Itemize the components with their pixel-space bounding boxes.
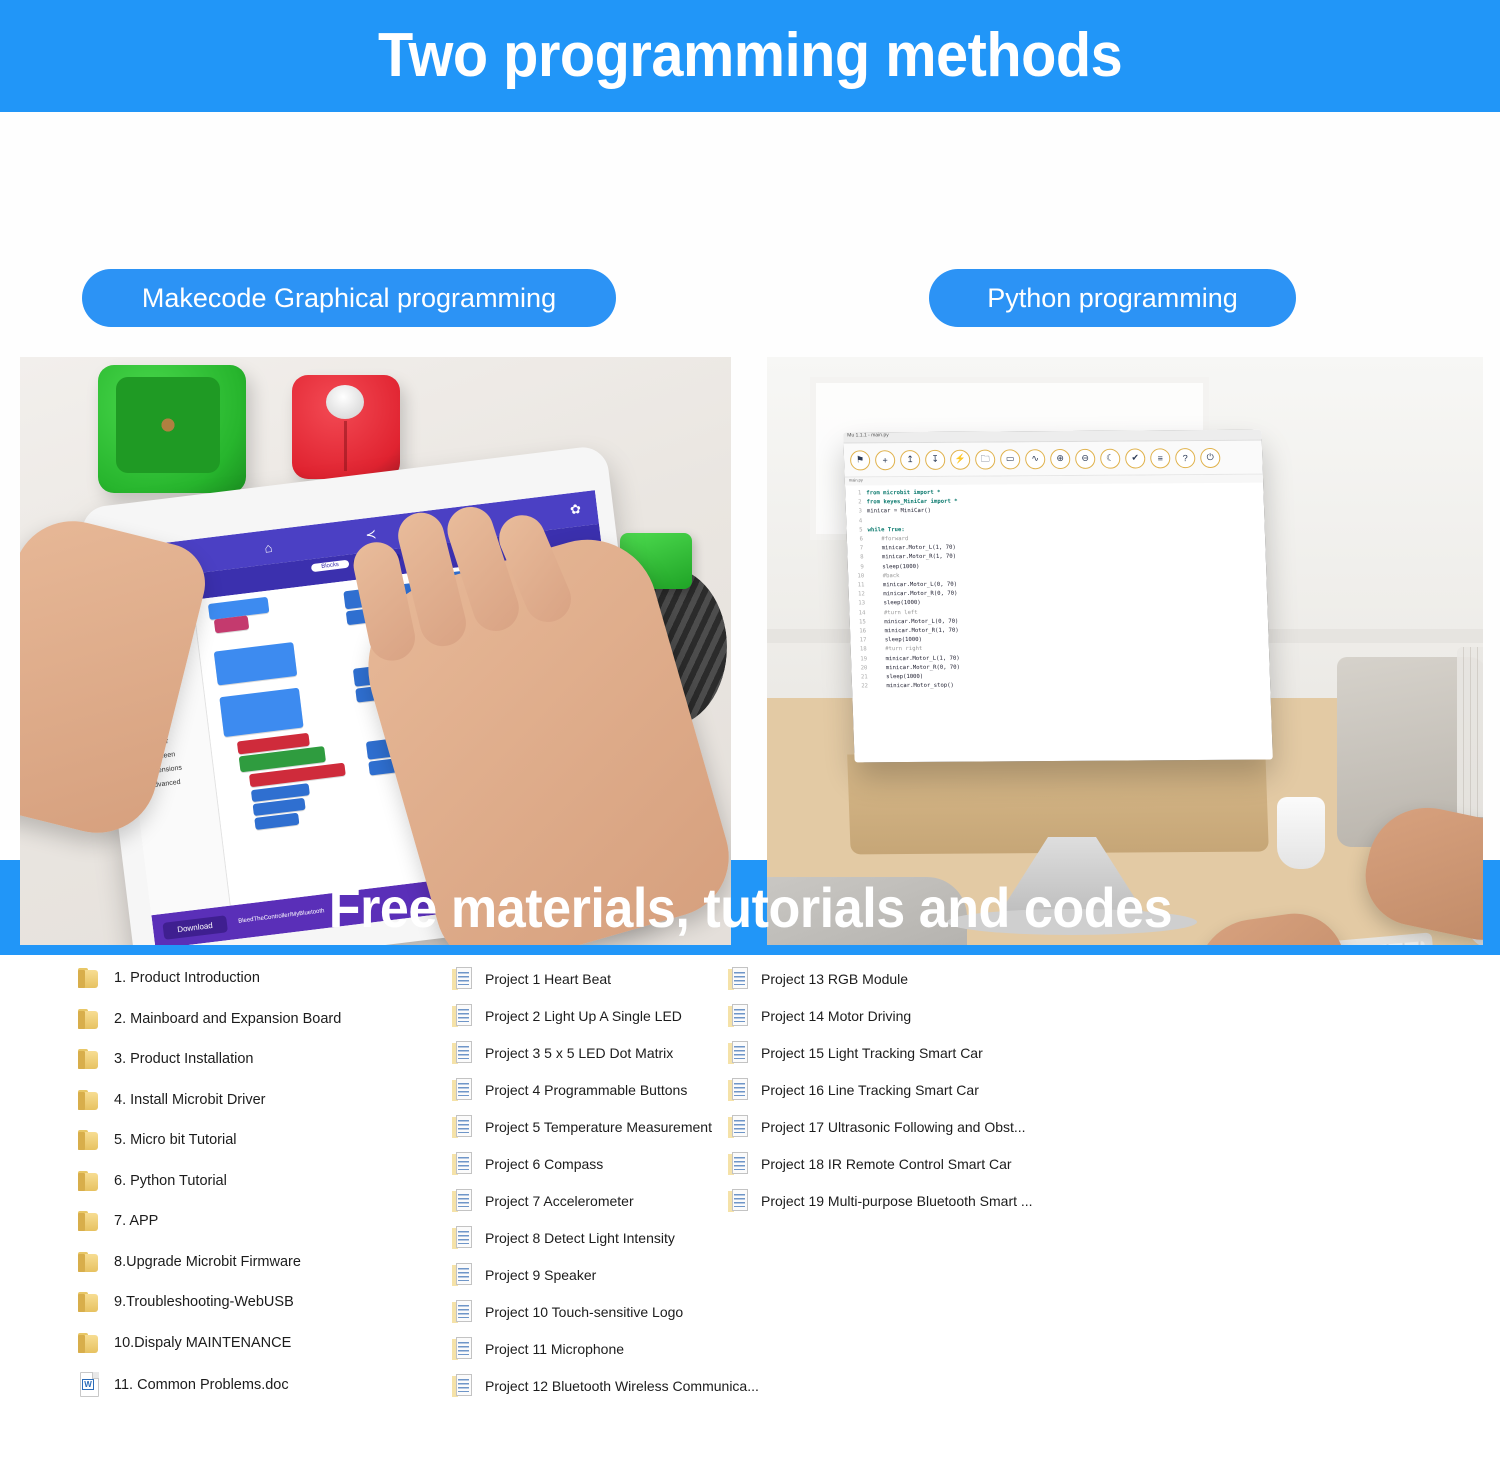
code-text: while True: — [867, 527, 904, 533]
file-list-item-label: Project 8 Detect Light Intensity — [485, 1230, 675, 1246]
mu-editor-window: Mu 1.1.1 - main.py ⚑+↥↧⚡🗀▭∿⊕⊖☾✔≡?⏻ main.… — [843, 430, 1273, 763]
projects-file-list-a[interactable]: Project 1 Heart BeatProject 2 Light Up A… — [452, 967, 732, 1411]
file-list-item-label: 7. APP — [114, 1213, 158, 1229]
file-list-item-label: Project 5 Temperature Measurement — [485, 1119, 712, 1135]
file-list-item[interactable]: Project 4 Programmable Buttons — [452, 1078, 732, 1102]
line-number: 22 — [856, 683, 868, 692]
line-number: 15 — [854, 618, 866, 627]
project-file-icon — [452, 1078, 474, 1102]
code-text: #turn left — [870, 610, 917, 616]
folder-icon — [78, 1008, 102, 1030]
file-list-item[interactable]: Project 19 Multi-purpose Bluetooth Smart… — [728, 1189, 1048, 1213]
file-list-item-label: 1. Product Introduction — [114, 970, 260, 986]
code-text: #back — [869, 573, 900, 579]
file-list-item-label: 4. Install Microbit Driver — [114, 1092, 265, 1108]
project-file-icon — [728, 1115, 750, 1139]
code-text: minicar.Motor_stop() — [873, 683, 954, 690]
wire-tray — [1457, 647, 1483, 817]
file-list-item[interactable]: Project 17 Ultrasonic Following and Obst… — [728, 1115, 1048, 1139]
material-file-list[interactable]: 1. Product Introduction2. Mainboard and … — [78, 967, 438, 1417]
file-list-item-label: 6. Python Tutorial — [114, 1173, 227, 1189]
file-list-item[interactable]: Project 2 Light Up A Single LED — [452, 1004, 732, 1028]
block[interactable] — [219, 688, 303, 737]
imac-monitor: Mu 1.1.1 - main.py ⚑+↥↧⚡🗀▭∿⊕⊖☾✔≡?⏻ main.… — [843, 430, 1273, 763]
code-text: from microbit import * — [866, 490, 940, 497]
file-list-item-label: Project 3 5 x 5 LED Dot Matrix — [485, 1045, 673, 1061]
file-list-item[interactable]: 4. Install Microbit Driver — [78, 1089, 438, 1111]
file-list-item-label: Project 12 Bluetooth Wireless Communica.… — [485, 1378, 759, 1394]
project-file-icon — [452, 1041, 474, 1065]
file-list-item[interactable]: 9.Troubleshooting-WebUSB — [78, 1291, 438, 1313]
green-sensor-cube — [98, 365, 246, 493]
code-text: minicar.Motor_L(1, 70) — [868, 545, 956, 552]
line-number: 2 — [849, 499, 861, 508]
line-number: 16 — [854, 627, 866, 636]
file-list-item[interactable]: 2. Mainboard and Expansion Board — [78, 1008, 438, 1030]
file-list-item-label: Project 17 Ultrasonic Following and Obst… — [761, 1119, 1026, 1135]
file-list-item-label: Project 13 RGB Module — [761, 971, 908, 987]
file-list-item[interactable]: Project 6 Compass — [452, 1152, 732, 1176]
file-list-item-label: Project 15 Light Tracking Smart Car — [761, 1045, 983, 1061]
file-list-item-label: Project 19 Multi-purpose Bluetooth Smart… — [761, 1193, 1033, 1209]
tidy-icon[interactable]: ≡ — [1150, 448, 1171, 468]
zoom-in-icon[interactable]: ⊕ — [1050, 448, 1071, 468]
file-list-item[interactable]: Project 13 RGB Module — [728, 967, 1048, 991]
file-list-item[interactable]: Project 8 Detect Light Intensity — [452, 1226, 732, 1250]
file-list-item[interactable]: Project 9 Speaker — [452, 1263, 732, 1287]
file-list-item[interactable]: Project 14 Motor Driving — [728, 1004, 1048, 1028]
gear-icon[interactable]: ✿ — [563, 500, 588, 519]
line-number: 4 — [850, 517, 862, 526]
save-icon[interactable]: ↧ — [925, 449, 946, 469]
file-list-item[interactable]: 6. Python Tutorial — [78, 1170, 438, 1192]
line-number: 14 — [853, 609, 865, 618]
folder-icon — [78, 1332, 102, 1354]
folder-icon — [78, 1089, 102, 1111]
line-number: 5 — [850, 526, 862, 535]
theme-icon[interactable]: ☾ — [1100, 448, 1121, 468]
home-icon[interactable]: ⌂ — [257, 539, 279, 556]
file-list-item-label: Project 4 Programmable Buttons — [485, 1082, 687, 1098]
project-file-icon — [452, 1374, 474, 1398]
file-list-item[interactable]: Project 10 Touch-sensitive Logo — [452, 1300, 732, 1324]
materials-section: 1. Product Introduction2. Mainboard and … — [0, 955, 1500, 1475]
block[interactable] — [254, 813, 299, 830]
file-list-item[interactable]: Project 11 Microphone — [452, 1337, 732, 1361]
file-list-item[interactable]: 3. Product Installation — [78, 1048, 438, 1070]
code-text: sleep(1000) — [870, 600, 921, 606]
file-list-item-label: Project 9 Speaker — [485, 1267, 596, 1283]
plotter-icon[interactable]: ∿ — [1025, 449, 1046, 469]
line-number: 8 — [851, 554, 863, 563]
makecode-photo: Microsoft micro:bit ⌂ ≺ ? ✿ Blocks JavaS… — [20, 357, 731, 945]
code-text: minicar = MiniCar() — [867, 508, 931, 514]
folder-icon — [78, 1251, 102, 1273]
file-list-item-label: Project 6 Compass — [485, 1156, 603, 1172]
quit-icon[interactable]: ⏻ — [1200, 447, 1221, 467]
line-number: 19 — [855, 655, 867, 664]
help-icon[interactable]: ? — [1175, 448, 1196, 468]
project-file-icon — [728, 1041, 750, 1065]
new-icon[interactable]: + — [875, 450, 896, 470]
line-number: 6 — [851, 535, 863, 544]
project-file-icon — [452, 967, 474, 991]
file-list-item-label: Project 10 Touch-sensitive Logo — [485, 1304, 683, 1320]
code-text: #turn right — [872, 646, 923, 652]
project-file-icon — [728, 1078, 750, 1102]
tab-blocks[interactable]: Blocks — [311, 560, 349, 573]
code-text: minicar.Motor_L(0, 70) — [869, 582, 957, 589]
file-list-item[interactable]: Project 18 IR Remote Control Smart Car — [728, 1152, 1048, 1176]
file-list-item-label: 5. Micro bit Tutorial — [114, 1132, 237, 1148]
project-file-icon — [728, 967, 750, 991]
folder-icon — [78, 1129, 102, 1151]
code-text: sleep(1000) — [871, 637, 922, 643]
line-number: 12 — [853, 591, 865, 600]
code-text: minicar.Motor_R(1, 70) — [871, 628, 959, 635]
file-list-item[interactable]: Project 3 5 x 5 LED Dot Matrix — [452, 1041, 732, 1065]
file-list-item-label: Project 11 Microphone — [485, 1341, 624, 1357]
file-list-item-label: 9.Troubleshooting-WebUSB — [114, 1294, 294, 1310]
file-list-item[interactable]: Project 7 Accelerometer — [452, 1189, 732, 1213]
file-list-item-label: 8.Upgrade Microbit Firmware — [114, 1254, 301, 1270]
materials-title: Free materials, tutorials and codes — [328, 880, 1171, 936]
code-text: minicar.Motor_R(0, 70) — [872, 665, 960, 672]
top-banner: Two programming methods — [0, 0, 1500, 112]
file-list-item-label: Project 16 Line Tracking Smart Car — [761, 1082, 979, 1098]
line-number: 13 — [853, 600, 865, 609]
line-number: 9 — [852, 563, 864, 572]
line-number: 18 — [855, 646, 867, 655]
file-list-item[interactable]: Project 12 Bluetooth Wireless Communica.… — [452, 1374, 732, 1398]
page-title: Two programming methods — [378, 25, 1122, 87]
file-list-item-label: Project 1 Heart Beat — [485, 971, 611, 987]
zoom-out-icon[interactable]: ⊖ — [1075, 448, 1096, 468]
project-name-field[interactable]: BleedTheController/MyBluetooth — [238, 908, 325, 925]
project-file-icon — [452, 1004, 474, 1028]
block[interactable] — [214, 642, 298, 685]
code-text: sleep(1000) — [869, 564, 920, 570]
line-number: 20 — [855, 664, 867, 673]
file-list-item[interactable]: W11. Common Problems.doc — [78, 1372, 438, 1398]
line-number: 10 — [852, 572, 864, 581]
line-number: 1 — [849, 489, 861, 498]
check-icon[interactable]: ✔ — [1125, 448, 1146, 468]
file-list-item[interactable]: Project 5 Temperature Measurement — [452, 1115, 732, 1139]
folder-icon — [78, 1210, 102, 1232]
files-icon[interactable]: 🗀 — [975, 449, 996, 469]
line-number: 11 — [852, 581, 864, 590]
python-pill-label[interactable]: Python programming — [929, 269, 1296, 327]
project-file-icon — [452, 1189, 474, 1213]
project-file-icon — [728, 1152, 750, 1176]
line-number: 3 — [850, 508, 862, 517]
project-file-icon — [728, 1004, 750, 1028]
code-text: from keyes_MiniCar import * — [867, 499, 958, 506]
programming-methods-section: Makecode Graphical programming Python pr… — [0, 112, 1500, 830]
project-file-icon — [728, 1189, 750, 1213]
python-photo: Mu 1.1.1 - main.py ⚑+↥↧⚡🗀▭∿⊕⊖☾✔≡?⏻ main.… — [767, 357, 1483, 945]
line-number: 17 — [854, 637, 866, 646]
file-list-item[interactable]: 1. Product Introduction — [78, 967, 438, 989]
file-list-item-label: Project 2 Light Up A Single LED — [485, 1008, 682, 1024]
line-number: 7 — [851, 545, 863, 554]
code-text: #forward — [868, 536, 909, 542]
file-list-item-label: 10.Dispaly MAINTENANCE — [114, 1335, 291, 1351]
repl-icon[interactable]: ▭ — [1000, 449, 1021, 469]
file-list-item-label: 3. Product Installation — [114, 1051, 253, 1067]
word-doc-icon: W — [78, 1372, 102, 1398]
file-list-item[interactable]: 8.Upgrade Microbit Firmware — [78, 1251, 438, 1273]
ceramic-cup — [1277, 797, 1325, 869]
mu-toolbar[interactable]: ⚑+↥↧⚡🗀▭∿⊕⊖☾✔≡?⏻ — [844, 441, 1263, 478]
code-line: 22 minicar.Motor_stop() — [856, 680, 1268, 692]
block[interactable] — [214, 615, 249, 633]
folder-icon — [78, 1048, 102, 1070]
code-text: minicar.Motor_R(0, 70) — [870, 591, 958, 598]
project-file-icon — [452, 1152, 474, 1176]
file-list-item[interactable]: 5. Micro bit Tutorial — [78, 1129, 438, 1151]
code-text: minicar.Motor_R(1, 70) — [868, 554, 956, 561]
file-list-item[interactable]: Project 1 Heart Beat — [452, 967, 732, 991]
load-icon[interactable]: ↥ — [900, 450, 921, 470]
file-list-item-label: 11. Common Problems.doc — [114, 1377, 289, 1393]
code-text: minicar.Motor_L(0, 70) — [871, 619, 959, 626]
share-icon[interactable]: ≺ — [359, 525, 384, 544]
mode-icon[interactable]: ⚑ — [850, 450, 871, 470]
project-file-icon — [452, 1337, 474, 1361]
project-file-icon — [452, 1300, 474, 1324]
file-list-item[interactable]: 7. APP — [78, 1210, 438, 1232]
line-number: 21 — [856, 673, 868, 682]
file-list-item[interactable]: Project 15 Light Tracking Smart Car — [728, 1041, 1048, 1065]
project-file-icon — [452, 1263, 474, 1287]
project-file-icon — [452, 1226, 474, 1250]
code-text: minicar.Motor_L(1, 70) — [872, 655, 960, 662]
folder-icon — [78, 967, 102, 989]
code-text: sleep(1000) — [873, 674, 924, 680]
file-list-item[interactable]: 10.Dispaly MAINTENANCE — [78, 1332, 438, 1354]
file-list-item-label: Project 7 Accelerometer — [485, 1193, 634, 1209]
projects-file-list-b[interactable]: Project 13 RGB ModuleProject 14 Motor Dr… — [728, 967, 1048, 1226]
folder-icon — [78, 1170, 102, 1192]
download-button[interactable]: Download — [162, 915, 227, 940]
project-file-icon — [452, 1115, 474, 1139]
file-list-item[interactable]: Project 16 Line Tracking Smart Car — [728, 1078, 1048, 1102]
mu-code-area[interactable]: 1from microbit import *2from keyes_MiniC… — [845, 483, 1270, 692]
file-list-item-label: 2. Mainboard and Expansion Board — [114, 1011, 341, 1027]
folder-icon — [78, 1291, 102, 1313]
makecode-pill-label[interactable]: Makecode Graphical programming — [82, 269, 616, 327]
flash-icon[interactable]: ⚡ — [950, 449, 971, 469]
file-list-item-label: Project 18 IR Remote Control Smart Car — [761, 1156, 1012, 1172]
red-sensor-cube — [292, 375, 400, 479]
file-list-item-label: Project 14 Motor Driving — [761, 1008, 911, 1024]
